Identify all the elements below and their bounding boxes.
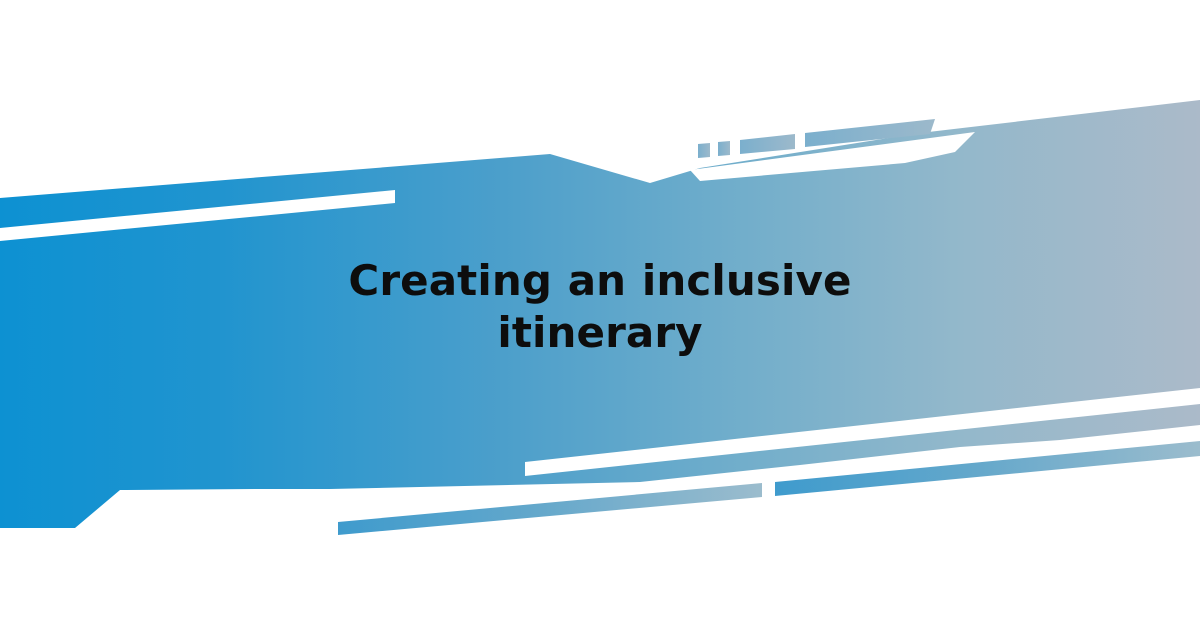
dash-small-2 xyxy=(718,141,730,156)
dash-long-1 xyxy=(740,134,795,154)
banner-background-art xyxy=(0,0,1200,630)
banner-card: Creating an inclusive itinerary xyxy=(0,0,1200,630)
dash-small-1 xyxy=(698,143,710,158)
detached-bar-left xyxy=(338,483,762,535)
